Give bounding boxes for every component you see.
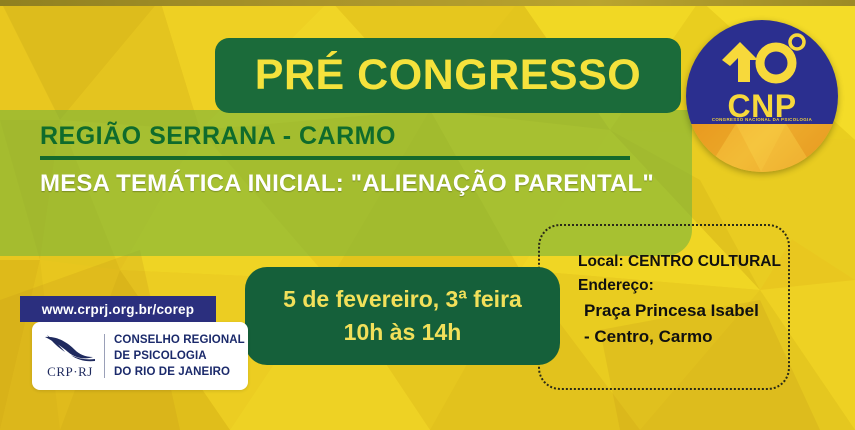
crp-footer-block: www.crprj.org.br/corep CRP·RJ CONSELHO R… bbox=[20, 296, 248, 390]
crp-abbreviation: CRP·RJ bbox=[47, 364, 93, 380]
cnp-logo-bottom-arc bbox=[686, 124, 838, 172]
cnp-caption: CONGRESSO NACIONAL DA PSICOLOGIA bbox=[686, 117, 838, 122]
date-time-box: 5 de fevereiro, 3ª feira 10h às 14h bbox=[245, 267, 560, 365]
page-title: PRÉ CONGRESSO bbox=[255, 51, 641, 100]
location-details: Local: CENTRO CULTURAL Endereço: Praça P… bbox=[578, 250, 808, 351]
time-line: 10h às 14h bbox=[344, 316, 462, 349]
venue-line: Local: CENTRO CULTURAL bbox=[578, 250, 808, 274]
crp-bird-icon: CRP·RJ bbox=[32, 330, 104, 382]
org-line-1: CONSELHO REGIONAL bbox=[114, 332, 245, 348]
crp-logo-card: CRP·RJ CONSELHO REGIONAL DE PSICOLOGIA D… bbox=[32, 322, 248, 390]
date-line: 5 de fevereiro, 3ª feira bbox=[283, 283, 522, 316]
address-line-2: - Centro, Carmo bbox=[578, 324, 808, 350]
website-url-bar[interactable]: www.crprj.org.br/corep bbox=[20, 296, 216, 322]
cnp-ten-degree-icon bbox=[686, 32, 838, 91]
website-url: www.crprj.org.br/corep bbox=[42, 302, 194, 317]
title-bar: PRÉ CONGRESSO bbox=[215, 38, 681, 113]
theme-subtitle: MESA TEMÁTICA INICIAL: "ALIENAÇÃO PARENT… bbox=[40, 170, 654, 198]
promotional-banner: PRÉ CONGRESSO REGIÃO SERRANA - CARMO MES… bbox=[0, 0, 855, 430]
org-line-2: DE PSICOLOGIA bbox=[114, 348, 245, 364]
venue-name: CENTRO CULTURAL bbox=[628, 253, 781, 270]
region-divider bbox=[40, 156, 630, 160]
top-accent-strip bbox=[0, 0, 855, 6]
venue-label: Local: bbox=[578, 253, 624, 270]
address-label: Endereço: bbox=[578, 274, 808, 298]
region-subtitle: REGIÃO SERRANA - CARMO bbox=[40, 122, 396, 151]
address-line-1: Praça Princesa Isabel bbox=[578, 298, 808, 324]
org-line-3: DO RIO DE JANEIRO bbox=[114, 364, 245, 380]
cnp-logo: CNP CONGRESSO NACIONAL DA PSICOLOGIA bbox=[686, 20, 838, 172]
crp-organization-name: CONSELHO REGIONAL DE PSICOLOGIA DO RIO D… bbox=[105, 332, 245, 381]
